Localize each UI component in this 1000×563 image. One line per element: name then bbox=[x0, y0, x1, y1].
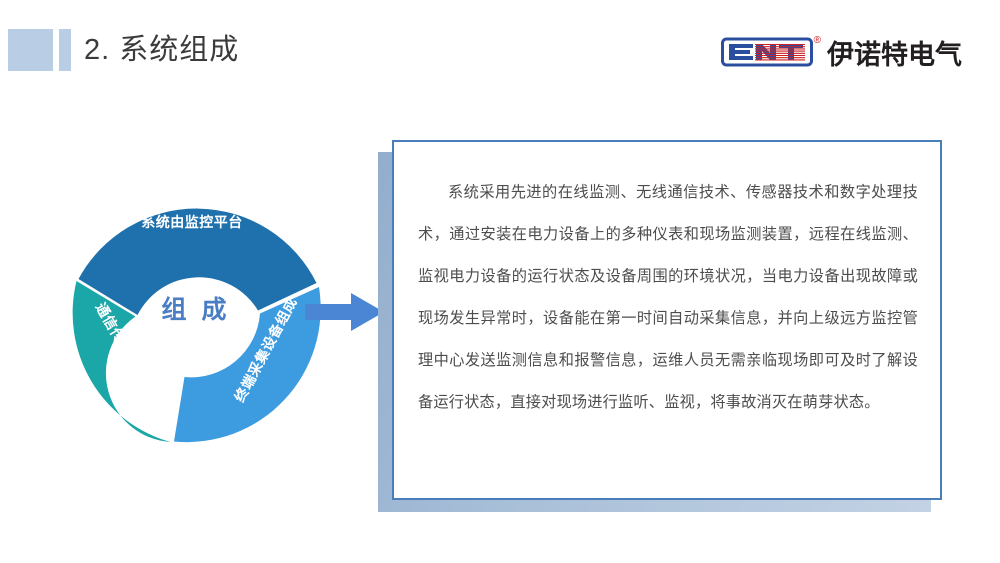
donut-center-label: 组 成 bbox=[162, 296, 231, 324]
header-decoration-square bbox=[8, 29, 53, 71]
composition-donut-diagram: 系统由监控平台 终端采集设备组成 通信传输设备 组 成 bbox=[44, 166, 344, 456]
donut-svg: 系统由监控平台 终端采集设备组成 通信传输设备 组 成 bbox=[44, 166, 344, 456]
page-title: 2. 系统组成 bbox=[84, 29, 239, 71]
donut-label-monitoring-platform: 系统由监控平台 bbox=[141, 214, 243, 230]
ent-logo-icon bbox=[721, 37, 813, 67]
registered-trademark-icon: ® bbox=[814, 36, 821, 46]
description-paragraph: 系统采用先进的在线监测、无线通信技术、传感器技术和数字处理技术，通过安装在电力设… bbox=[418, 172, 918, 424]
slide-header: 2. 系统组成 bbox=[0, 0, 1000, 100]
flow-arrow-right-icon bbox=[305, 290, 385, 334]
company-logo: ® 伊诺特电气 bbox=[721, 34, 962, 70]
company-name: 伊诺特电气 bbox=[827, 33, 962, 72]
description-card: 系统采用先进的在线监测、无线通信技术、传感器技术和数字处理技术，通过安装在电力设… bbox=[392, 140, 942, 500]
header-decoration-bar bbox=[59, 29, 71, 71]
